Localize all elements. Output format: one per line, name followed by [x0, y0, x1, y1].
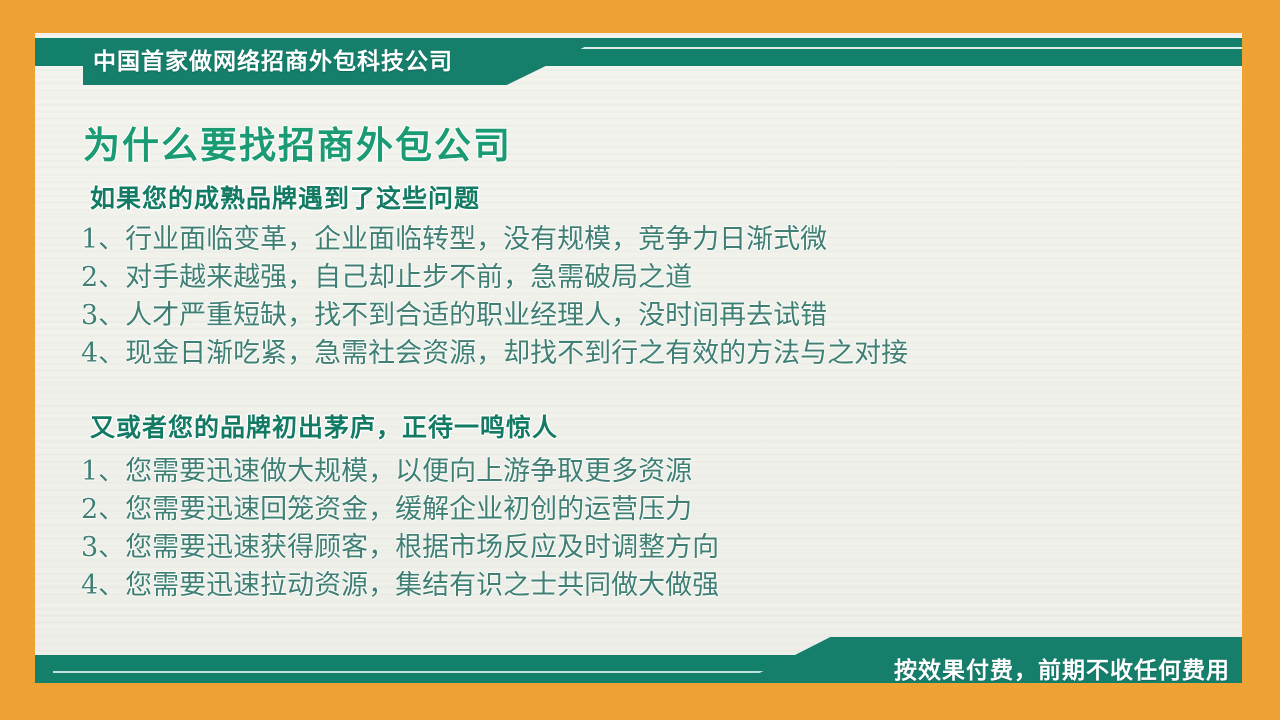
list-item: 4、现金日渐吃紧，急需社会资源，却找不到行之有效的方法与之对接	[81, 335, 908, 373]
section-heading-startup: 又或者您的品牌初出茅庐，正待一鸣惊人	[90, 408, 558, 444]
startup-needs-list: 1、您需要迅速做大规模，以便向上游争取更多资源 2、您需要迅速回笼资金，缓解企业…	[81, 453, 719, 605]
list-item: 3、您需要迅速获得顾客，根据市场反应及时调整方向	[81, 529, 719, 567]
header-band: 中国首家做网络招商外包科技公司	[35, 38, 1242, 66]
problem-list: 1、行业面临变革，企业面临转型，没有规模，竞争力日渐式微 2、对手越来越强，自己…	[81, 221, 908, 373]
list-item: 2、对手越来越强，自己却止步不前，急需破局之道	[81, 259, 908, 297]
list-item: 4、您需要迅速拉动资源，集结有识之士共同做大做强	[81, 567, 719, 605]
footer-strip-divider-line	[53, 671, 781, 673]
header-title: 中国首家做网络招商外包科技公司	[93, 42, 453, 76]
list-item: 3、人才严重短缺，找不到合适的职业经理人，没时间再去试错	[81, 297, 908, 335]
list-item: 1、行业面临变革，企业面临转型，没有规模，竞争力日渐式微	[81, 221, 908, 259]
slide-root: 中国首家做网络招商外包科技公司 为什么要找招商外包公司 如果您的成熟品牌遇到了这…	[0, 0, 1280, 720]
list-item: 1、您需要迅速做大规模，以便向上游争取更多资源	[81, 453, 719, 491]
slide-content: 为什么要找招商外包公司 如果您的成熟品牌遇到了这些问题 1、行业面临变革，企业面…	[35, 95, 1242, 625]
section-heading-problems: 如果您的成熟品牌遇到了这些问题	[90, 179, 480, 215]
footer-band: 按效果付费，前期不收任何费用	[35, 655, 1242, 683]
page-title: 为什么要找招商外包公司	[83, 115, 512, 169]
list-item: 2、您需要迅速回笼资金，缓解企业初创的运营压力	[81, 491, 719, 529]
footer-tagline: 按效果付费，前期不收任何费用	[894, 651, 1230, 685]
